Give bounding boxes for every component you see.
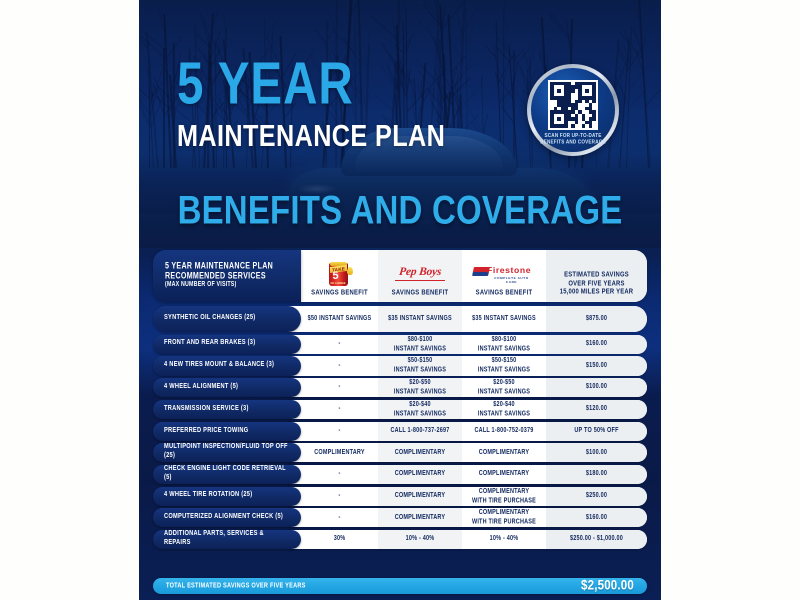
row-values: -COMPLIMENTARYCOMPLIMENTARYWITH TIRE PUR… — [288, 508, 647, 527]
cell-take5: - — [301, 335, 378, 354]
service-name-cell: FRONT AND REAR BRAKES (3) — [153, 335, 301, 354]
service-name-label: 4 WHEEL TIRE ROTATION (25) — [164, 491, 252, 501]
cell-value: $20-$40INSTANT SAVINGS — [394, 401, 446, 418]
cell-value: $120.00 — [586, 405, 607, 414]
cell-value: 30% — [334, 535, 346, 544]
column-header-estimated-savings: ESTIMATED SAVINGS OVER FIVE YEARS 15,000… — [546, 250, 647, 302]
cell-pepboys: $20-$40INSTANT SAVINGS — [378, 400, 462, 419]
total-savings-amount: $2,500.00 — [581, 579, 634, 594]
service-name-label: SYNTHETIC OIL CHANGES (25) — [164, 314, 255, 324]
cell-value: COMPLIMENTARYWITH TIRE PURCHASE — [472, 509, 536, 526]
service-name-label: CHECK ENGINE LIGHT CODE RETRIEVAL (5) — [164, 465, 292, 485]
cell-take5: - — [301, 378, 378, 397]
firestone-logo: Firestone COMPLETE AUTO CARE — [473, 261, 535, 287]
qr-code-badge[interactable]: SCAN FOR UP-TO-DATE BENEFITS AND COVERAG… — [527, 64, 619, 156]
service-name-cell: SYNTHETIC OIL CHANGES (25) — [153, 306, 301, 332]
firestone-sublabel: SAVINGS BENEFIT — [476, 289, 533, 297]
cell-value: COMPLIMENTARY — [395, 492, 446, 501]
cell-pepboys: COMPLIMENTARY — [378, 465, 462, 484]
row-values: COMPLIMENTARYCOMPLIMENTARYCOMPLIMENTARY$… — [288, 443, 647, 462]
cell-value: $80-$100INSTANT SAVINGS — [394, 336, 446, 353]
cell-firestone: $20-$50INSTANT SAVINGS — [462, 378, 546, 397]
service-name-cell: COMPUTERIZED ALIGNMENT CHECK (5) — [153, 508, 301, 527]
service-name-label: COMPUTERIZED ALIGNMENT CHECK (5) — [164, 513, 283, 523]
service-name-cell: 4 WHEEL TIRE ROTATION (25) — [153, 487, 301, 506]
cell-value: $80-$100INSTANT SAVINGS — [478, 336, 530, 353]
cell-pepboys: COMPLIMENTARY — [378, 443, 462, 462]
cell-estimated: UP TO 50% OFF — [546, 422, 647, 441]
qr-code-grid — [550, 82, 596, 128]
table-body: SYNTHETIC OIL CHANGES (25)$50 INSTANT SA… — [153, 306, 647, 549]
cell-value: $100.00 — [586, 383, 607, 392]
service-name-cell: TRANSMISSION SERVICE (3) — [153, 400, 301, 419]
pep-boys-logo: Pep Boys — [392, 261, 448, 287]
cell-firestone: COMPLIMENTARYWITH TIRE PURCHASE — [462, 487, 546, 506]
table-row: MULTIPOINT INSPECTION/FLUID TOP OFF (25)… — [153, 443, 647, 462]
cell-firestone: $35 INSTANT SAVINGS — [462, 306, 546, 332]
benefits-table: 5 YEAR MAINTENANCE PLAN RECOMMENDED SERV… — [153, 250, 647, 552]
cell-value: $875.00 — [586, 315, 607, 324]
cell-estimated: $120.00 — [546, 400, 647, 419]
table-row: FRONT AND REAR BRAKES (3)-$80-$100INSTAN… — [153, 335, 647, 354]
cell-pepboys: $50-$150INSTANT SAVINGS — [378, 356, 462, 375]
row-values: $50 INSTANT SAVINGS$35 INSTANT SAVINGS$3… — [288, 306, 647, 332]
service-name-label: PREFERRED PRICE TOWING — [164, 426, 248, 436]
cell-firestone: $20-$40INSTANT SAVINGS — [462, 400, 546, 419]
poster-subtitle: BENEFITS AND COVERAGE — [139, 190, 661, 230]
table-row: 4 NEW TIRES MOUNT & BALANCE (3)-$50-$150… — [153, 356, 647, 375]
cell-estimated: $250.00 — [546, 487, 647, 506]
cell-value: $20-$40INSTANT SAVINGS — [478, 401, 530, 418]
column-header-take5: TAKE 5 OIL CHANGE SAVINGS BENEFIT — [301, 250, 378, 302]
table-header-row: 5 YEAR MAINTENANCE PLAN RECOMMENDED SERV… — [153, 250, 647, 302]
cell-value: $150.00 — [586, 362, 607, 371]
cell-value: $160.00 — [586, 514, 607, 523]
cell-value: $250.00 - $1,000.00 — [570, 535, 623, 544]
cell-pepboys: COMPLIMENTARY — [378, 487, 462, 506]
cell-value: 10% - 40% — [406, 535, 435, 544]
cell-value: - — [338, 514, 340, 523]
cell-value: $35 INSTANT SAVINGS — [472, 315, 536, 324]
total-savings-label: TOTAL ESTIMATED SAVINGS OVER FIVE YEARS — [166, 582, 306, 590]
cell-firestone: COMPLIMENTARYWITH TIRE PURCHASE — [462, 508, 546, 527]
cell-estimated: $100.00 — [546, 378, 647, 397]
take5-sublabel: SAVINGS BENEFIT — [311, 289, 368, 297]
cell-value: - — [338, 383, 340, 392]
service-name-label: FRONT AND REAR BRAKES (3) — [164, 339, 255, 349]
cell-pepboys: $20-$50INSTANT SAVINGS — [378, 378, 462, 397]
row-values: 30%10% - 40%10% - 40%$250.00 - $1,000.00 — [288, 530, 647, 549]
service-name-cell: 4 NEW TIRES MOUNT & BALANCE (3) — [153, 356, 301, 375]
cell-firestone: $50-$150INSTANT SAVINGS — [462, 356, 546, 375]
row-values: -COMPLIMENTARYCOMPLIMENTARY$180.00 — [288, 465, 647, 484]
cell-firestone: COMPLIMENTARY — [462, 465, 546, 484]
cell-take5: 30% — [301, 530, 378, 549]
cell-value: 10% - 40% — [490, 535, 519, 544]
cell-estimated: $160.00 — [546, 508, 647, 527]
table-row: ADDITIONAL PARTS, SERVICES & REPAIRS30%1… — [153, 530, 647, 549]
take5-logo: TAKE 5 OIL CHANGE — [325, 261, 355, 287]
table-header-service-column: 5 YEAR MAINTENANCE PLAN RECOMMENDED SERV… — [153, 250, 301, 302]
cell-value: $20-$50INSTANT SAVINGS — [394, 379, 446, 396]
service-name-cell: ADDITIONAL PARTS, SERVICES & REPAIRS — [153, 530, 301, 549]
cell-take5: - — [301, 356, 378, 375]
table-row: PREFERRED PRICE TOWING-CALL 1-800-737-26… — [153, 422, 647, 441]
cell-value: - — [338, 362, 340, 371]
cell-take5: - — [301, 508, 378, 527]
cell-value: COMPLIMENTARYWITH TIRE PURCHASE — [472, 488, 536, 505]
service-name-label: 4 NEW TIRES MOUNT & BALANCE (3) — [164, 361, 274, 371]
cell-value: - — [338, 405, 340, 414]
table-row: 4 WHEEL TIRE ROTATION (25)-COMPLIMENTARY… — [153, 487, 647, 506]
cell-value: CALL 1-800-752-0379 — [474, 427, 533, 436]
cell-value: COMPLIMENTARY — [395, 449, 446, 458]
cell-value: $35 INSTANT SAVINGS — [388, 315, 452, 324]
cell-value: $50-$150INSTANT SAVINGS — [478, 357, 530, 374]
service-name-label: ADDITIONAL PARTS, SERVICES & REPAIRS — [164, 530, 292, 550]
header-service-line-3: (MAX NUMBER OF VISITS) — [165, 280, 293, 291]
cell-value: $50 INSTANT SAVINGS — [308, 315, 372, 324]
cell-pepboys: COMPLIMENTARY — [378, 508, 462, 527]
cell-take5: - — [301, 487, 378, 506]
service-name-cell: 4 WHEEL ALIGNMENT (5) — [153, 378, 301, 397]
service-name-label: MULTIPOINT INSPECTION/FLUID TOP OFF (25) — [164, 443, 292, 463]
cell-take5: COMPLIMENTARY — [301, 443, 378, 462]
cell-firestone: $80-$100INSTANT SAVINGS — [462, 335, 546, 354]
cell-estimated: $100.00 — [546, 443, 647, 462]
maintenance-plan-poster: 5 YEAR MAINTENANCE PLAN SCAN FOR UP-TO-D… — [139, 0, 661, 600]
cell-firestone: COMPLIMENTARY — [462, 443, 546, 462]
estimated-header-line-3: 15,000 MILES PER YEAR — [560, 287, 634, 298]
cell-value: COMPLIMENTARY — [479, 470, 530, 479]
cell-estimated: $160.00 — [546, 335, 647, 354]
cell-value: - — [338, 470, 340, 479]
firestone-tagline: COMPLETE AUTO CARE — [488, 276, 535, 284]
cell-value: COMPLIMENTARY — [479, 449, 530, 458]
cell-estimated: $180.00 — [546, 465, 647, 484]
service-name-label: 4 WHEEL ALIGNMENT (5) — [164, 383, 238, 393]
row-values: -CALL 1-800-737-2697CALL 1-800-752-0379U… — [288, 422, 647, 441]
cell-value: $100.00 — [586, 449, 607, 458]
row-values: -$50-$150INSTANT SAVINGS$50-$150INSTANT … — [288, 356, 647, 375]
cell-estimated: $250.00 - $1,000.00 — [546, 530, 647, 549]
cell-take5: - — [301, 422, 378, 441]
cell-value: CALL 1-800-737-2697 — [390, 427, 449, 436]
firestone-wordmark: Firestone — [487, 266, 531, 275]
cell-value: $160.00 — [586, 340, 607, 349]
column-header-pepboys: Pep Boys SAVINGS BENEFIT — [378, 250, 462, 302]
cell-pepboys: 10% - 40% — [378, 530, 462, 549]
cell-take5: $50 INSTANT SAVINGS — [301, 306, 378, 332]
cell-value: COMPLIMENTARY — [395, 470, 446, 479]
cell-value: - — [338, 492, 340, 501]
cell-value: $50-$150INSTANT SAVINGS — [394, 357, 446, 374]
row-values: -$80-$100INSTANT SAVINGS$80-$100INSTANT … — [288, 335, 647, 354]
cell-estimated: $875.00 — [546, 306, 647, 332]
qr-caption-line-2: BENEFITS AND COVERAGE — [534, 139, 612, 145]
cell-pepboys: $35 INSTANT SAVINGS — [378, 306, 462, 332]
cell-value: - — [338, 340, 340, 349]
poster-page: 5 YEAR MAINTENANCE PLAN SCAN FOR UP-TO-D… — [0, 0, 800, 600]
qr-caption: SCAN FOR UP-TO-DATE BENEFITS AND COVERAG… — [534, 132, 612, 145]
service-name-cell: PREFERRED PRICE TOWING — [153, 422, 301, 441]
cell-value: COMPLIMENTARY — [314, 449, 365, 458]
table-row: 4 WHEEL ALIGNMENT (5)-$20-$50INSTANT SAV… — [153, 378, 647, 397]
cell-take5: - — [301, 400, 378, 419]
service-name-cell: MULTIPOINT INSPECTION/FLUID TOP OFF (25) — [153, 443, 301, 462]
total-savings-bar: TOTAL ESTIMATED SAVINGS OVER FIVE YEARS … — [153, 578, 647, 594]
table-row: TRANSMISSION SERVICE (3)-$20-$40INSTANT … — [153, 400, 647, 419]
cell-firestone: 10% - 40% — [462, 530, 546, 549]
cell-firestone: CALL 1-800-752-0379 — [462, 422, 546, 441]
table-header-brand-columns: TAKE 5 OIL CHANGE SAVINGS BENEFIT Pep Bo… — [301, 250, 647, 302]
table-row: CHECK ENGINE LIGHT CODE RETRIEVAL (5)-CO… — [153, 465, 647, 484]
pep-boys-wordmark: Pep Boys — [398, 267, 441, 279]
cell-value: $250.00 — [586, 492, 607, 501]
cell-value: UP TO 50% OFF — [574, 427, 618, 436]
cell-value: $20-$50INSTANT SAVINGS — [478, 379, 530, 396]
pepboys-sublabel: SAVINGS BENEFIT — [392, 289, 449, 297]
row-values: -$20-$40INSTANT SAVINGS$20-$40INSTANT SA… — [288, 400, 647, 419]
cell-pepboys: CALL 1-800-737-2697 — [378, 422, 462, 441]
row-values: -COMPLIMENTARYCOMPLIMENTARYWITH TIRE PUR… — [288, 487, 647, 506]
cell-value: COMPLIMENTARY — [395, 514, 446, 523]
row-values: -$20-$50INSTANT SAVINGS$20-$50INSTANT SA… — [288, 378, 647, 397]
qr-code-icon[interactable] — [548, 80, 598, 130]
table-row: COMPUTERIZED ALIGNMENT CHECK (5)-COMPLIM… — [153, 508, 647, 527]
column-header-firestone: Firestone COMPLETE AUTO CARE SAVINGS BEN… — [462, 250, 546, 302]
service-name-label: TRANSMISSION SERVICE (3) — [164, 405, 249, 415]
service-name-cell: CHECK ENGINE LIGHT CODE RETRIEVAL (5) — [153, 465, 301, 484]
cell-value: $180.00 — [586, 470, 607, 479]
cell-value: - — [338, 427, 340, 436]
cell-take5: - — [301, 465, 378, 484]
table-row: SYNTHETIC OIL CHANGES (25)$50 INSTANT SA… — [153, 306, 647, 332]
cell-pepboys: $80-$100INSTANT SAVINGS — [378, 335, 462, 354]
cell-estimated: $150.00 — [546, 356, 647, 375]
qr-caption-line-1: SCAN FOR UP-TO-DATE — [534, 132, 612, 138]
qr-badge-inner: SCAN FOR UP-TO-DATE BENEFITS AND COVERAG… — [531, 68, 615, 152]
